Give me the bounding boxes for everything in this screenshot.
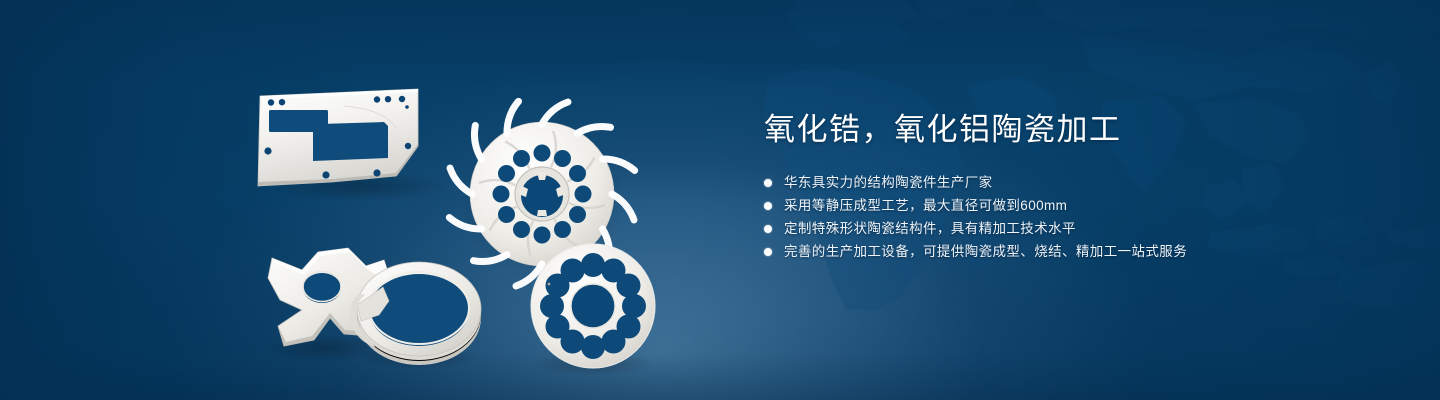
bullet-dot-icon xyxy=(764,225,772,233)
list-item-label: 华东具实力的结构陶瓷件生产厂家 xyxy=(784,174,993,191)
hero-banner: 氧化锆，氧化铝陶瓷加工 华东具实力的结构陶瓷件生产厂家 采用等静压成型工艺，最大… xyxy=(0,0,1440,400)
list-item-label: 采用等静压成型工艺，最大直径可做到600mm xyxy=(784,197,1067,214)
feature-list: 华东具实力的结构陶瓷件生产厂家 采用等静压成型工艺，最大直径可做到600mm 定… xyxy=(764,174,1324,260)
list-item: 完善的生产加工设备，可提供陶瓷成型、烧结、精加工一站式服务 xyxy=(764,243,1324,260)
product-image-cluster xyxy=(236,34,696,384)
bullet-dot-icon xyxy=(764,202,772,210)
banner-copy: 氧化锆，氧化铝陶瓷加工 华东具实力的结构陶瓷件生产厂家 采用等静压成型工艺，最大… xyxy=(764,108,1324,266)
list-item: 定制特殊形状陶瓷结构件，具有精加工技术水平 xyxy=(764,220,1324,237)
ceramic-plate-with-cutouts xyxy=(258,89,453,202)
list-item-label: 定制特殊形状陶瓷结构件，具有精加工技术水平 xyxy=(784,220,1076,237)
bullet-dot-icon xyxy=(764,248,772,256)
bullet-dot-icon xyxy=(764,179,772,187)
list-item: 采用等静压成型工艺，最大直径可做到600mm xyxy=(764,197,1324,214)
ceramic-perforated-disc xyxy=(531,244,655,376)
list-item: 华东具实力的结构陶瓷件生产厂家 xyxy=(764,174,1324,191)
page-title: 氧化锆，氧化铝陶瓷加工 xyxy=(764,108,1324,152)
list-item-label: 完善的生产加工设备，可提供陶瓷成型、烧结、精加工一站式服务 xyxy=(784,243,1187,260)
